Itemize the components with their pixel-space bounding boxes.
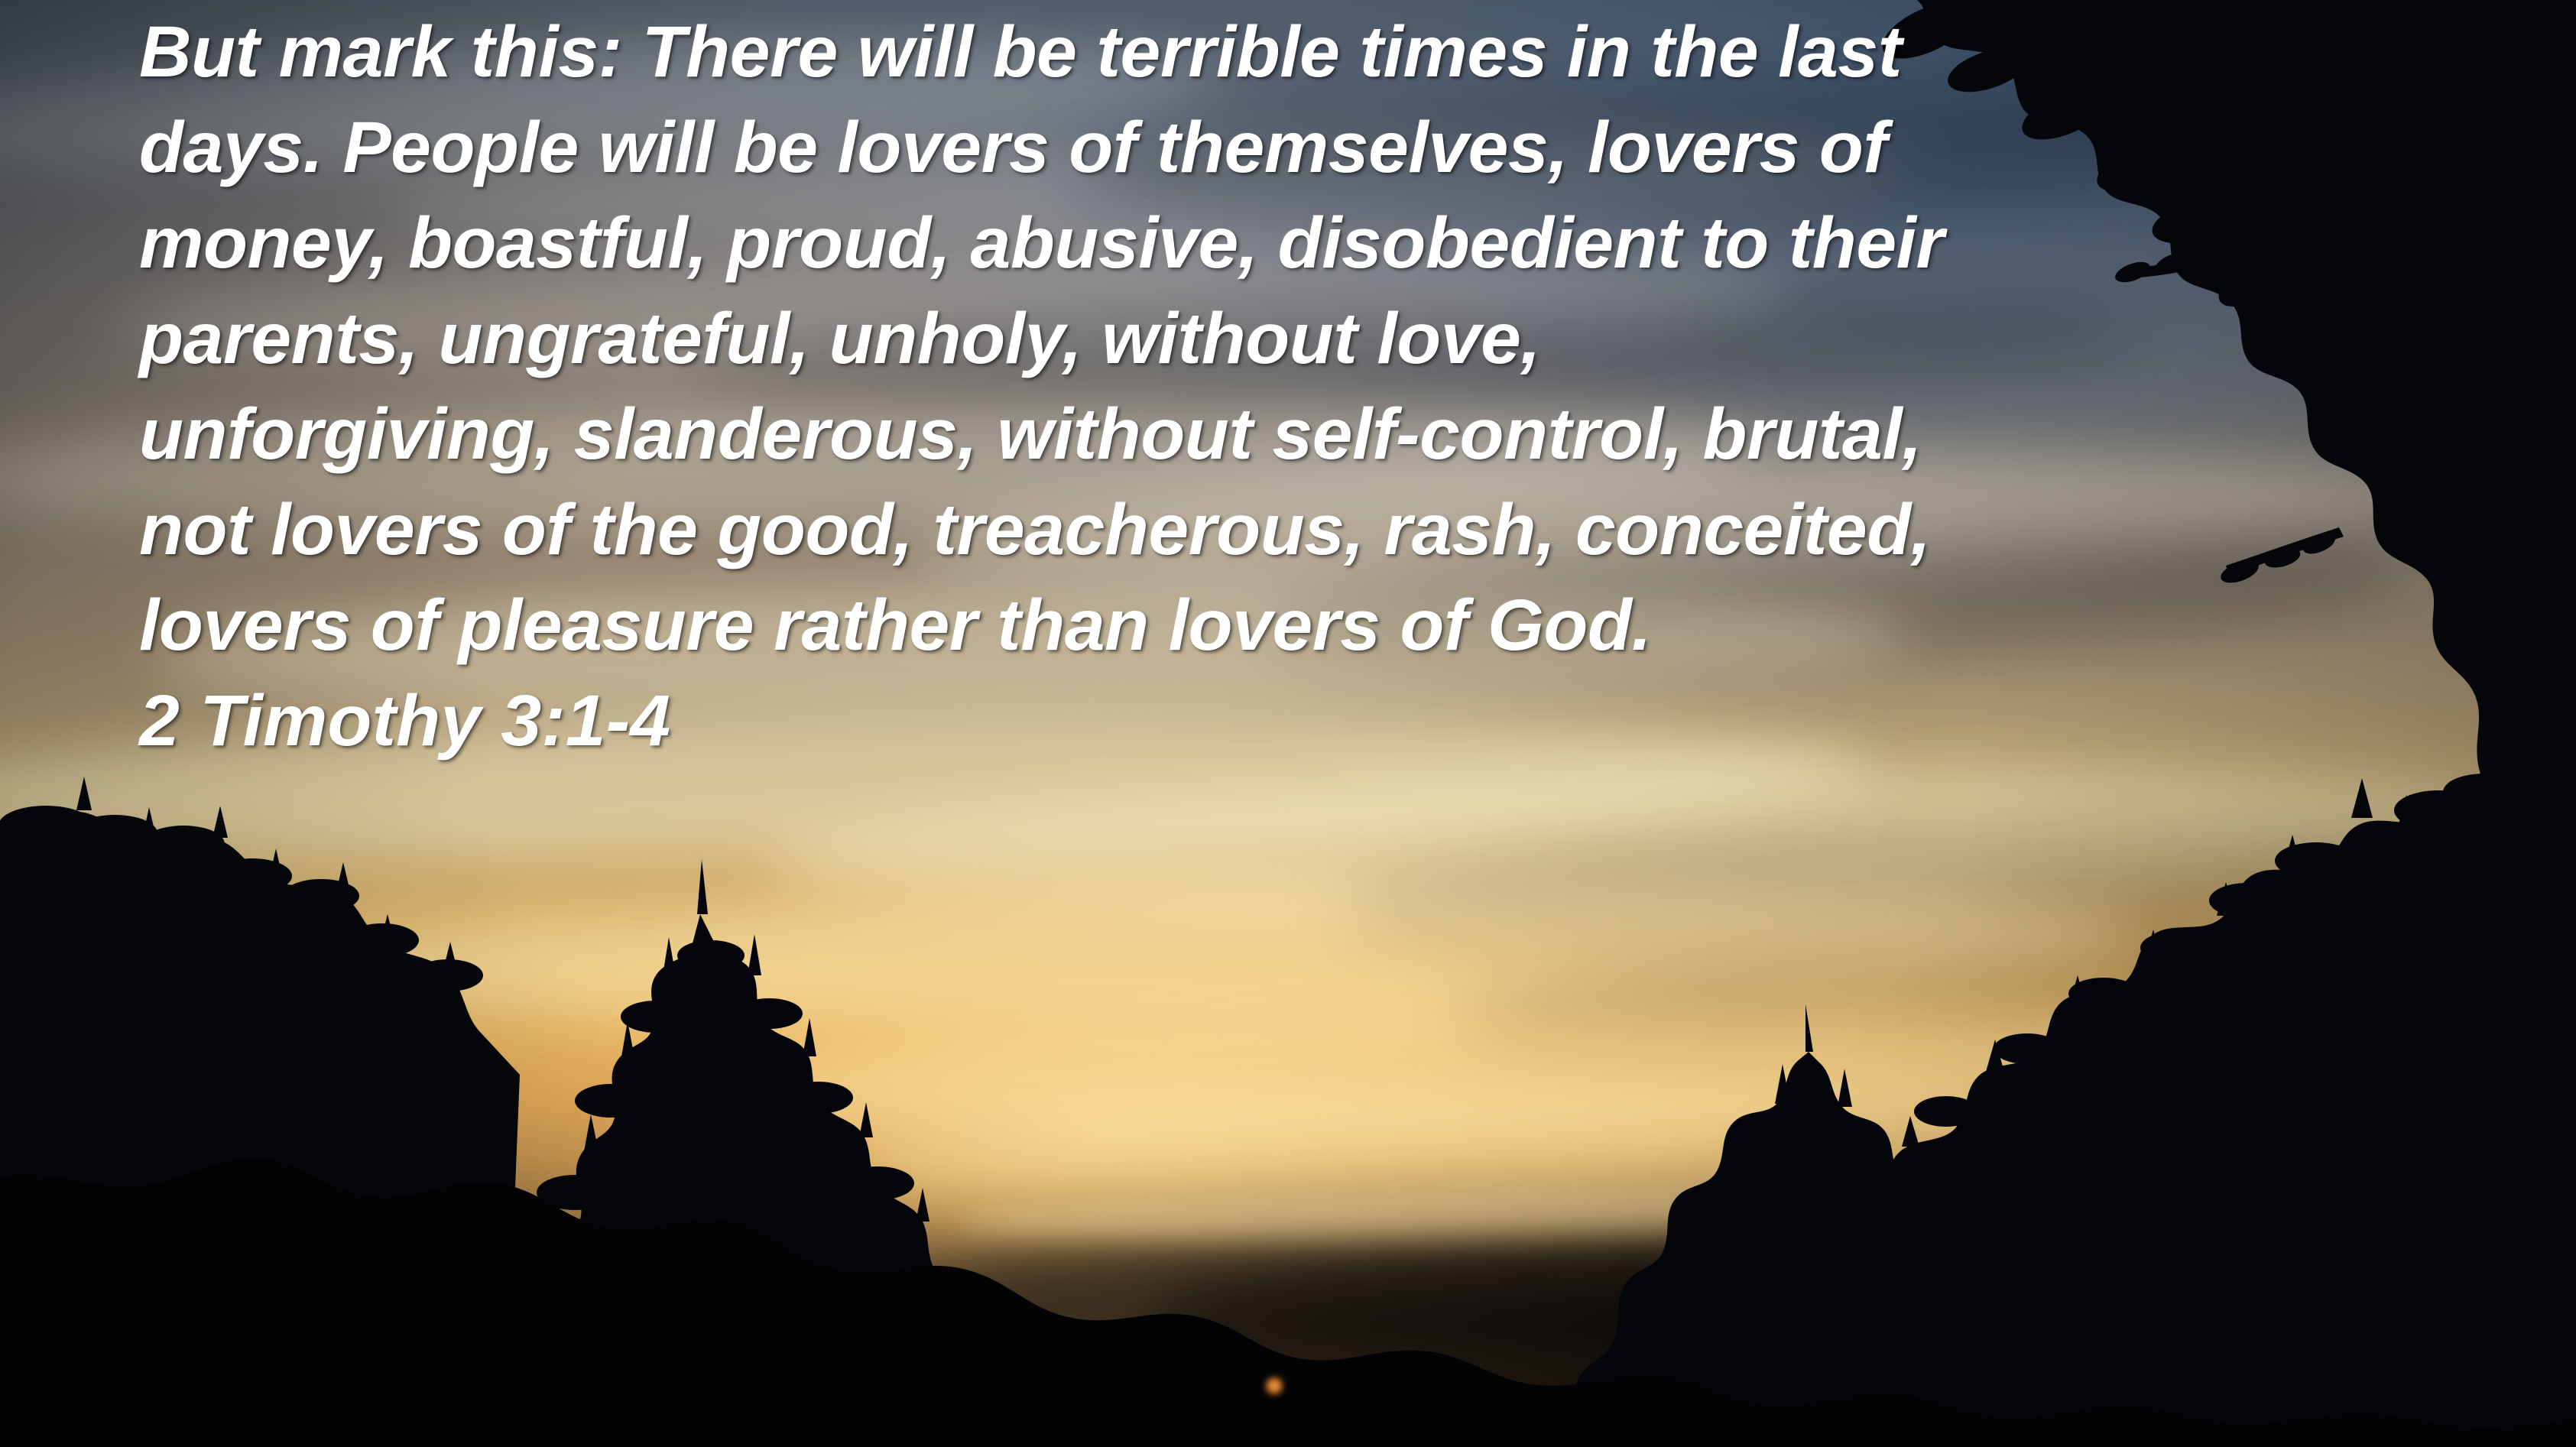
verse-line: days. People will be lovers of themselve…	[139, 100, 2356, 196]
verse-overlay: But mark this: There will be terrible ti…	[139, 5, 2356, 769]
verse-reference: 2 Timothy 3:1-4	[139, 673, 2356, 769]
verse-line: lovers of pleasure rather than lovers of…	[139, 578, 2356, 673]
distant-light	[1264, 1376, 1284, 1396]
verse-line: not lovers of the good, treacherous, ras…	[139, 482, 2356, 578]
verse-line: money, boastful, proud, abusive, disobed…	[139, 196, 2356, 291]
scripture-image: But mark this: There will be terrible ti…	[0, 0, 2576, 1447]
verse-line: parents, ungrateful, unholy, without lov…	[139, 291, 2356, 387]
verse-line: unforgiving, slanderous, without self-co…	[139, 387, 2356, 482]
verse-line: But mark this: There will be terrible ti…	[139, 5, 2356, 100]
